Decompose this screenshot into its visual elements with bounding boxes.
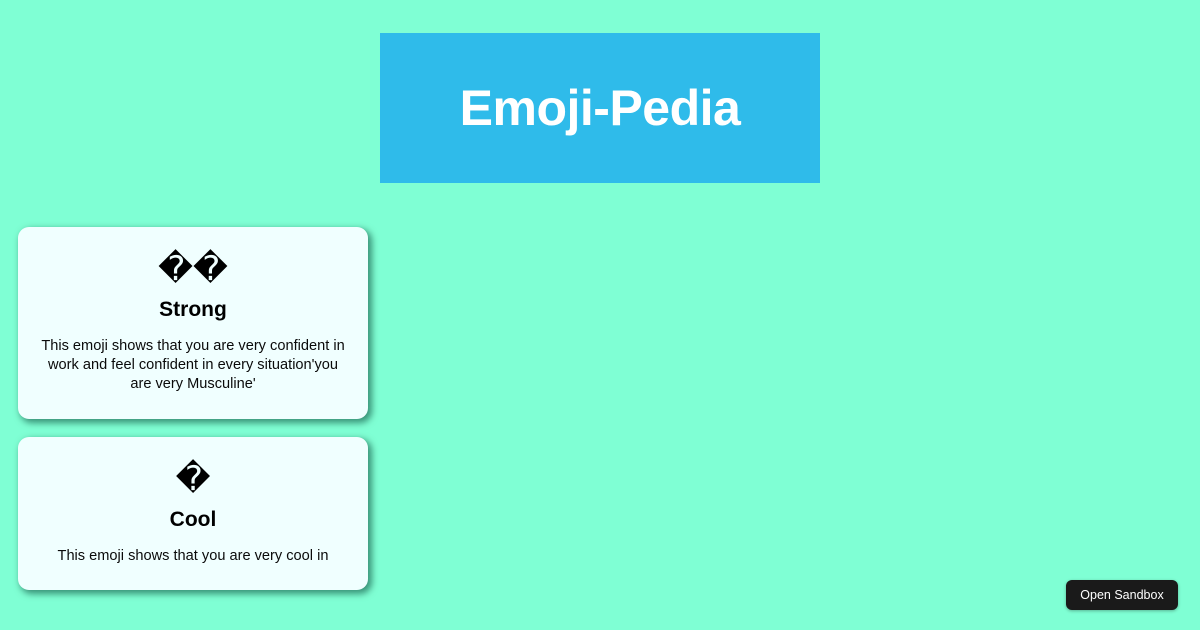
missing-glyph-tofu-single-icon: � bbox=[32, 459, 354, 499]
emoji-card-title: Strong bbox=[32, 297, 354, 323]
open-sandbox-button[interactable]: Open Sandbox bbox=[1066, 580, 1178, 610]
emoji-card-title: Cool bbox=[32, 507, 354, 533]
emoji-card[interactable]: �� Strong This emoji shows that you are … bbox=[18, 227, 368, 419]
emoji-card-description: This emoji shows that you are very confi… bbox=[32, 337, 354, 395]
missing-glyph-tofu-double-icon: �� bbox=[32, 249, 354, 289]
page-header: Emoji-Pedia bbox=[380, 33, 820, 183]
emoji-card-list: �� Strong This emoji shows that you are … bbox=[18, 227, 368, 608]
page-title: Emoji-Pedia bbox=[460, 83, 741, 133]
emoji-card[interactable]: � Cool This emoji shows that you are ver… bbox=[18, 437, 368, 590]
emoji-card-description: This emoji shows that you are very cool … bbox=[32, 547, 354, 566]
